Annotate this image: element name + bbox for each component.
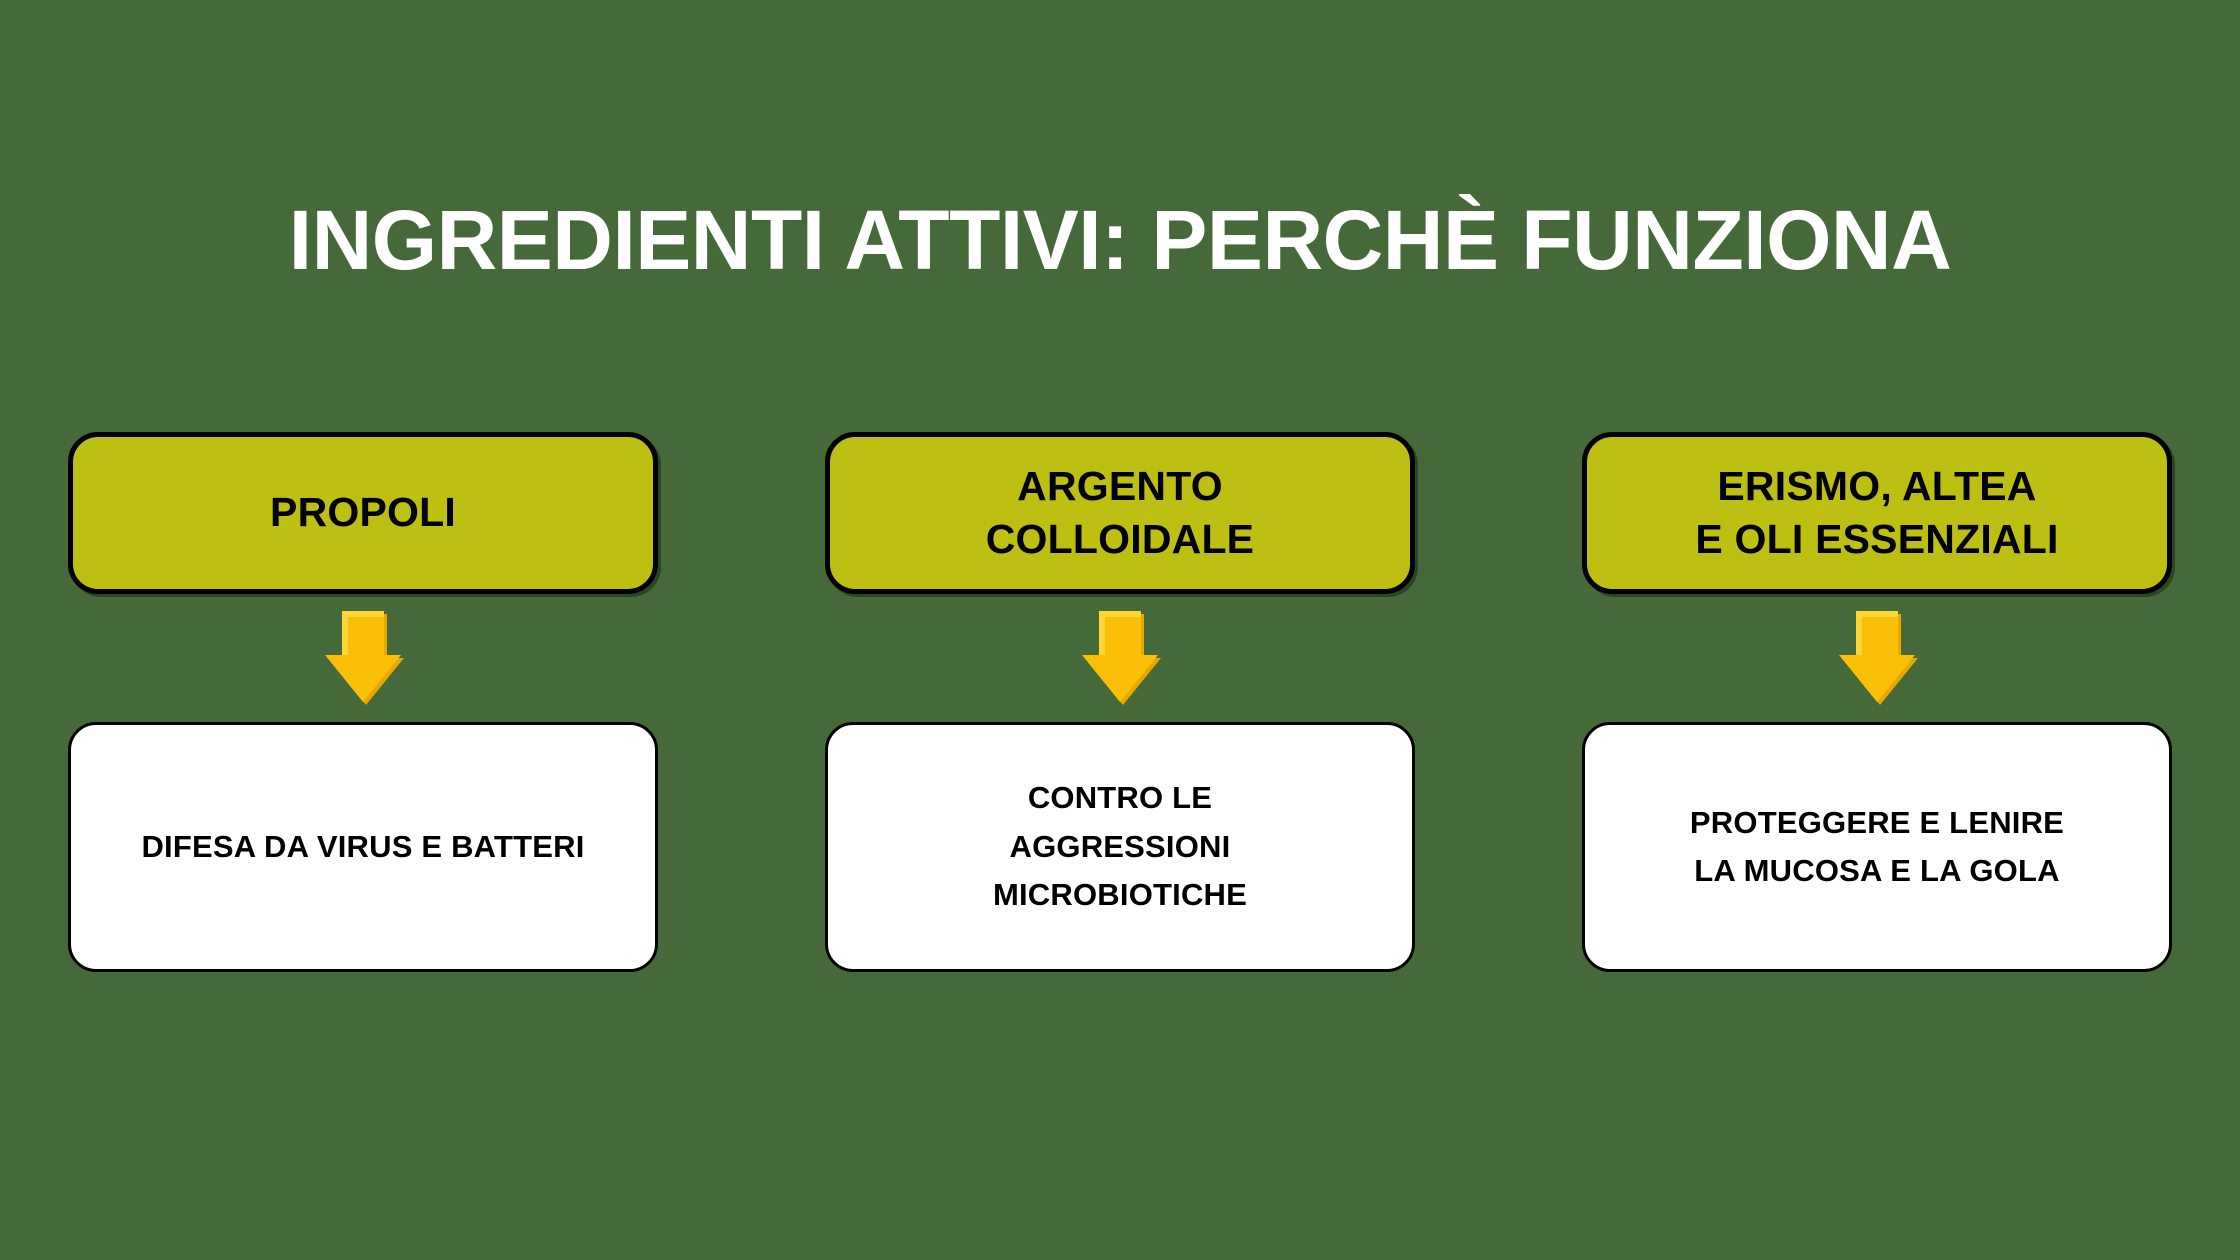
- arrow-wrap-1: [68, 594, 658, 722]
- down-arrow-icon: [318, 608, 408, 708]
- ingredient-card-2[interactable]: ARGENTO COLLOIDALE: [825, 432, 1415, 594]
- ingredient-card-3[interactable]: ERISMO, ALTEA E OLI ESSENZIALI: [1582, 432, 2172, 594]
- benefit-card-2-label: CONTRO LE AGGRESSIONI MICROBIOTICHE: [993, 774, 1247, 919]
- ingredient-columns: PROPOLI DIFESA DA VIRUS E BATTERI: [68, 432, 2172, 1004]
- ingredient-card-3-label: ERISMO, ALTEA E OLI ESSENZIALI: [1695, 460, 2058, 567]
- ingredient-card-2-label: ARGENTO COLLOIDALE: [986, 460, 1254, 567]
- benefit-card-3[interactable]: PROTEGGERE E LENIRE LA MUCOSA E LA GOLA: [1582, 722, 2172, 972]
- ingredient-column-argento-colloidale: ARGENTO COLLOIDALE CONTRO LE AGGRESSIONI…: [825, 432, 1415, 1004]
- down-arrow-icon: [1075, 608, 1165, 708]
- ingredient-column-propoli: PROPOLI DIFESA DA VIRUS E BATTERI: [68, 432, 658, 1004]
- benefit-card-2[interactable]: CONTRO LE AGGRESSIONI MICROBIOTICHE: [825, 722, 1415, 972]
- ingredient-card-1[interactable]: PROPOLI: [68, 432, 658, 594]
- arrow-wrap-3: [1582, 594, 2172, 722]
- page-title: INGREDIENTI ATTIVI: PERCHÈ FUNZIONA: [0, 196, 2240, 284]
- benefit-card-1-label: DIFESA DA VIRUS E BATTERI: [141, 823, 584, 871]
- down-arrow-icon: [1832, 608, 1922, 708]
- slide-canvas: INGREDIENTI ATTIVI: PERCHÈ FUNZIONA PROP…: [0, 0, 2240, 1260]
- arrow-wrap-2: [825, 594, 1415, 722]
- ingredient-card-1-label: PROPOLI: [270, 486, 456, 539]
- ingredient-column-erismo-altea: ERISMO, ALTEA E OLI ESSENZIALI PROTEGGER…: [1582, 432, 2172, 1004]
- benefit-card-1[interactable]: DIFESA DA VIRUS E BATTERI: [68, 722, 658, 972]
- benefit-card-3-label: PROTEGGERE E LENIRE LA MUCOSA E LA GOLA: [1690, 799, 2064, 896]
